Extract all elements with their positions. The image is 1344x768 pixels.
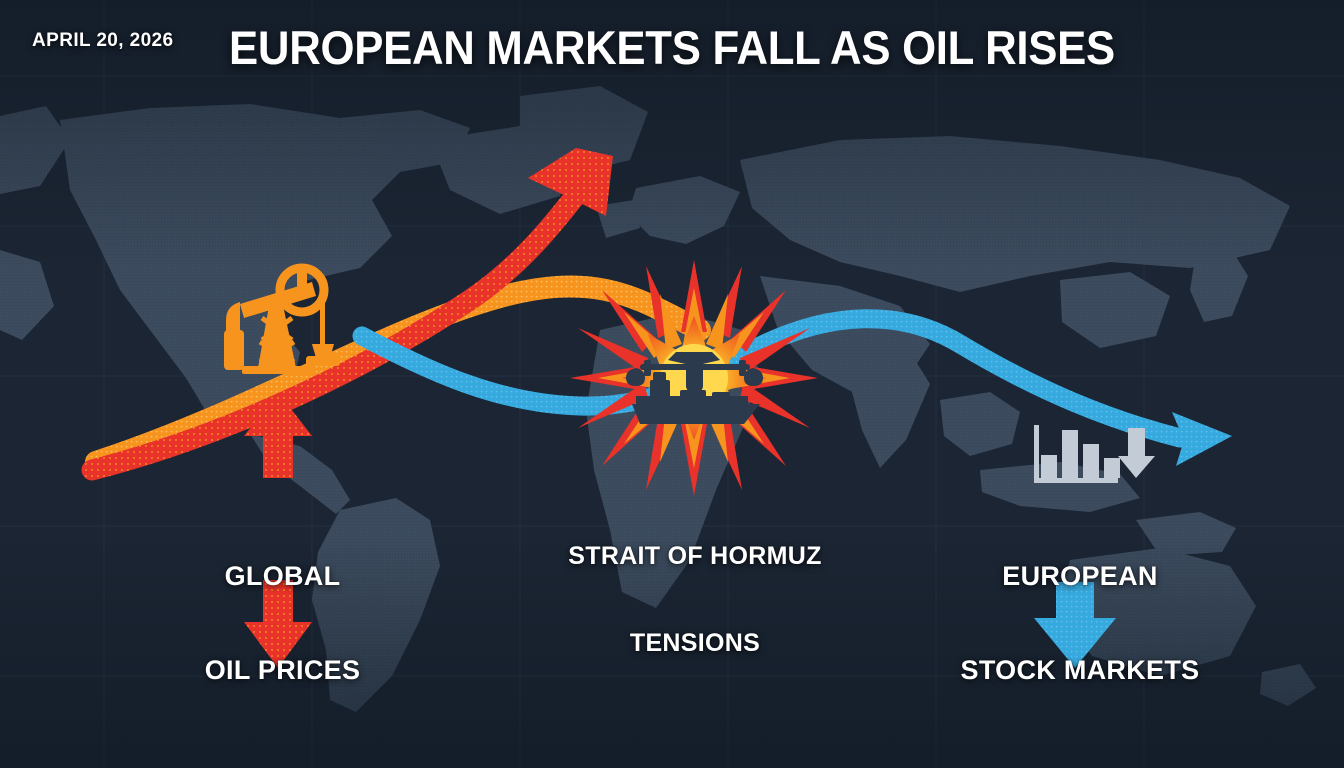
label-line-2: STOCK MARKETS [930, 655, 1230, 686]
chart-bar-2 [1062, 430, 1078, 478]
chart-bar-3 [1083, 444, 1099, 478]
infographic-canvas: APRIL 20, 2026 EUROPEAN MARKETS FALL AS … [0, 0, 1344, 768]
explosion-drone-ship-icon [570, 260, 818, 496]
oil-up-arrow [244, 392, 312, 478]
label-line-1: EUROPEAN [930, 561, 1230, 592]
label-line-2: TENSIONS [540, 629, 850, 658]
label-european-stock-markets: EUROPEAN STOCK MARKETS [930, 498, 1230, 749]
label-line-1: GLOBAL [140, 561, 425, 592]
label-line-1: STRAIT OF HORMUZ [540, 542, 850, 571]
chart-bar-1 [1041, 455, 1057, 478]
label-strait-of-hormuz-tensions: STRAIT OF HORMUZ TENSIONS [540, 484, 850, 716]
label-global-oil-prices: GLOBAL OIL PRICES [140, 498, 425, 749]
label-line-2: OIL PRICES [140, 655, 425, 686]
chart-down-arrow [1118, 428, 1155, 478]
falling-bar-chart-icon [1034, 425, 1155, 483]
oil-pumpjack-icon [224, 268, 340, 374]
page-title: EUROPEAN MARKETS FALL AS OIL RISES [47, 20, 1297, 75]
chart-bar-4 [1104, 458, 1120, 478]
